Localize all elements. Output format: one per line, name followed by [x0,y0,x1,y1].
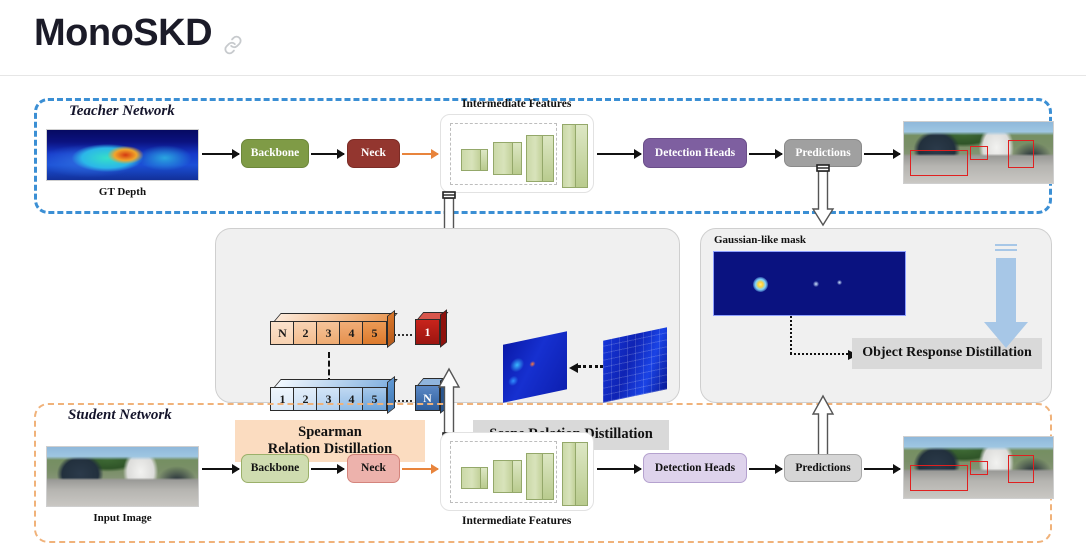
spearman-teacher-gap-dots [394,334,412,336]
student-input-image [46,446,199,507]
object-response-dotted-horizontal [790,353,848,355]
cube-teacher-detached-side [440,309,447,347]
response-transfer-arrow [984,244,1028,349]
gt-depth-image [46,129,199,181]
teacher-neck-block[interactable]: Neck [347,139,400,168]
teacher-output-image [903,121,1054,184]
mask-peak-secondary-2 [837,280,842,285]
feature-slab-1 [461,149,481,171]
teacher-features-caption: Intermediate Features [462,98,571,110]
student-backbone-block[interactable]: Backbone [241,454,309,483]
cube-teacher-2: 3 [316,321,341,345]
hollow-arrow-teacher-predictions-down [811,165,835,229]
cube-teacher-4: 5 [362,321,387,345]
student-feature-slab-1 [461,467,481,489]
arrow-student-neck-features [402,468,438,470]
student-output-image [903,436,1054,499]
cube-student-top-face [273,379,398,388]
arrow-teacher-predictions-output [864,153,900,155]
page-title-text: MonoSKD [34,12,212,55]
cube-teacher-top-face [273,313,398,322]
student-features-caption: Intermediate Features [462,515,571,527]
gaussian-like-mask-image [713,251,906,316]
gt-depth-caption: GT Depth [46,186,199,198]
arrow-teacher-backbone-neck [311,153,344,155]
mask-peak-primary [753,277,768,292]
mask-peak-secondary-1 [813,281,819,287]
arrow-student-features-heads [597,468,641,470]
arrow-teacher-input-backbone [202,153,239,155]
student-network-label: Student Network [62,407,178,424]
cube-teacher-0: N [270,321,295,345]
student-bbox-car-mid [970,461,988,475]
page-header: MonoSKD [0,0,1086,76]
teacher-predictions-block[interactable]: Predictions [784,139,862,167]
student-feature-slab-4 [562,442,576,506]
cube-teacher-side-face [387,310,395,348]
teacher-backbone-block[interactable]: Backbone [241,139,309,168]
teacher-detection-heads-block[interactable]: Detection Heads [643,138,747,168]
gaussian-mask-label: Gaussian-like mask [714,234,806,246]
bbox-truck [1008,140,1034,168]
cube-teacher-detached: 1 [415,319,440,345]
arrow-student-input-backbone [202,468,239,470]
student-bbox-truck [1008,455,1034,483]
student-feature-slab-3 [526,453,543,500]
page-title: MonoSKD [34,12,244,55]
arrow-teacher-neck-features [402,153,438,155]
teacher-intermediate-features [440,114,594,193]
student-feature-slab-2 [493,460,513,493]
arrow-student-predictions-output [864,468,900,470]
arrow-teacher-features-heads [597,153,641,155]
student-input-caption: Input Image [46,512,199,524]
scene-relation-arrow [578,365,603,368]
arrow-student-heads-predictions [749,468,782,470]
link-icon[interactable] [222,23,244,45]
student-intermediate-features [440,432,594,511]
spearman-student-gap-dots [394,400,412,402]
student-neck-block[interactable]: Neck [347,454,400,483]
teacher-network-label: Teacher Network [63,103,181,120]
feature-slab-4 [562,124,576,188]
student-bbox-car-left [910,465,968,491]
architecture-figure: Teacher Network GT Depth Backbone Neck I… [0,76,1086,557]
cube-teacher-1: 2 [293,321,318,345]
feature-slab-3 [526,135,543,182]
arrow-teacher-heads-predictions [749,153,782,155]
student-detection-heads-block[interactable]: Detection Heads [643,453,747,483]
hollow-arrow-student-features-up [437,369,461,439]
student-predictions-block[interactable]: Predictions [784,454,862,482]
cube-teacher-3: 4 [339,321,364,345]
bbox-car-left [910,150,968,176]
feature-slab-2 [493,142,513,175]
arrow-student-backbone-neck [311,468,344,470]
cube-teacher-detached-label: 1 [415,319,440,345]
object-response-dotted-vertical [790,316,792,354]
bbox-car-mid [970,146,988,160]
